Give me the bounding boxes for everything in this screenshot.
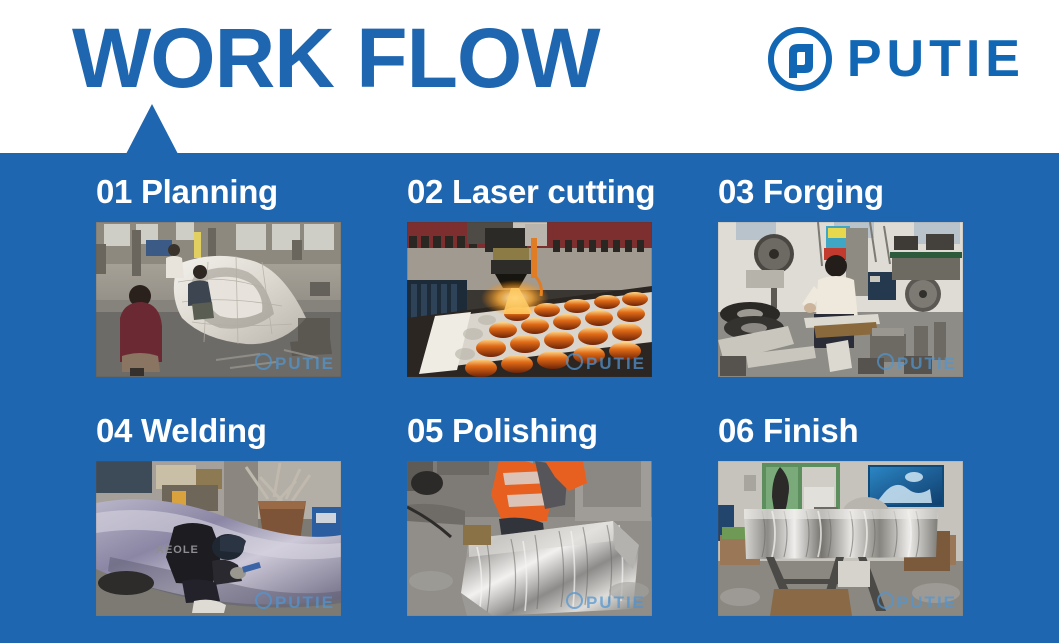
planning-photo-image (96, 222, 341, 377)
step-photo-laser-cutting: PUTIE (407, 222, 652, 377)
step-photo-finish: PUTIE (718, 461, 963, 616)
header: WORK FLOW PUTIE (0, 0, 1059, 153)
welding-photo-image: AEOLE (96, 461, 341, 616)
laser-cutting-photo-image (407, 222, 652, 377)
right-fan-icon (905, 276, 941, 312)
step-photo-polishing: PUTIE (407, 461, 652, 616)
finish-photo-image (718, 461, 963, 616)
step-05-polishing: 05 Polishing (407, 411, 652, 616)
step-label: 06 Finish (718, 411, 963, 451)
page-title: WORK FLOW (72, 12, 600, 104)
svg-text:AEOLE: AEOLE (156, 544, 199, 556)
step-photo-welding: AEOLE PUTIE (96, 461, 341, 616)
workflow-infographic: WORK FLOW PUTIE 01 Planning (0, 0, 1059, 643)
step-photo-forging: PUTIE (718, 222, 963, 377)
step-label: 02 Laser cutting (407, 172, 652, 212)
step-03-forging: 03 Forging (718, 172, 963, 377)
step-04-welding: 04 Welding (96, 411, 341, 616)
polishing-photo-image (407, 461, 652, 616)
brand-logo: PUTIE (767, 26, 1025, 92)
step-label: 01 Planning (96, 172, 341, 212)
step-02-laser-cutting: 02 Laser cutting (407, 172, 652, 377)
triangle-pointer-icon (126, 104, 178, 154)
step-01-planning: 01 Planning (96, 172, 341, 377)
step-06-finish: 06 Finish (718, 411, 963, 616)
putie-circle-p-logo-icon (767, 26, 833, 92)
step-label: 03 Forging (718, 172, 963, 212)
logo-wordmark: PUTIE (847, 33, 1025, 85)
step-label: 04 Welding (96, 411, 341, 451)
steps-panel: 01 Planning (0, 153, 1059, 643)
forging-photo-image (718, 222, 963, 377)
step-label: 05 Polishing (407, 411, 652, 451)
step-photo-planning: PUTIE (96, 222, 341, 377)
